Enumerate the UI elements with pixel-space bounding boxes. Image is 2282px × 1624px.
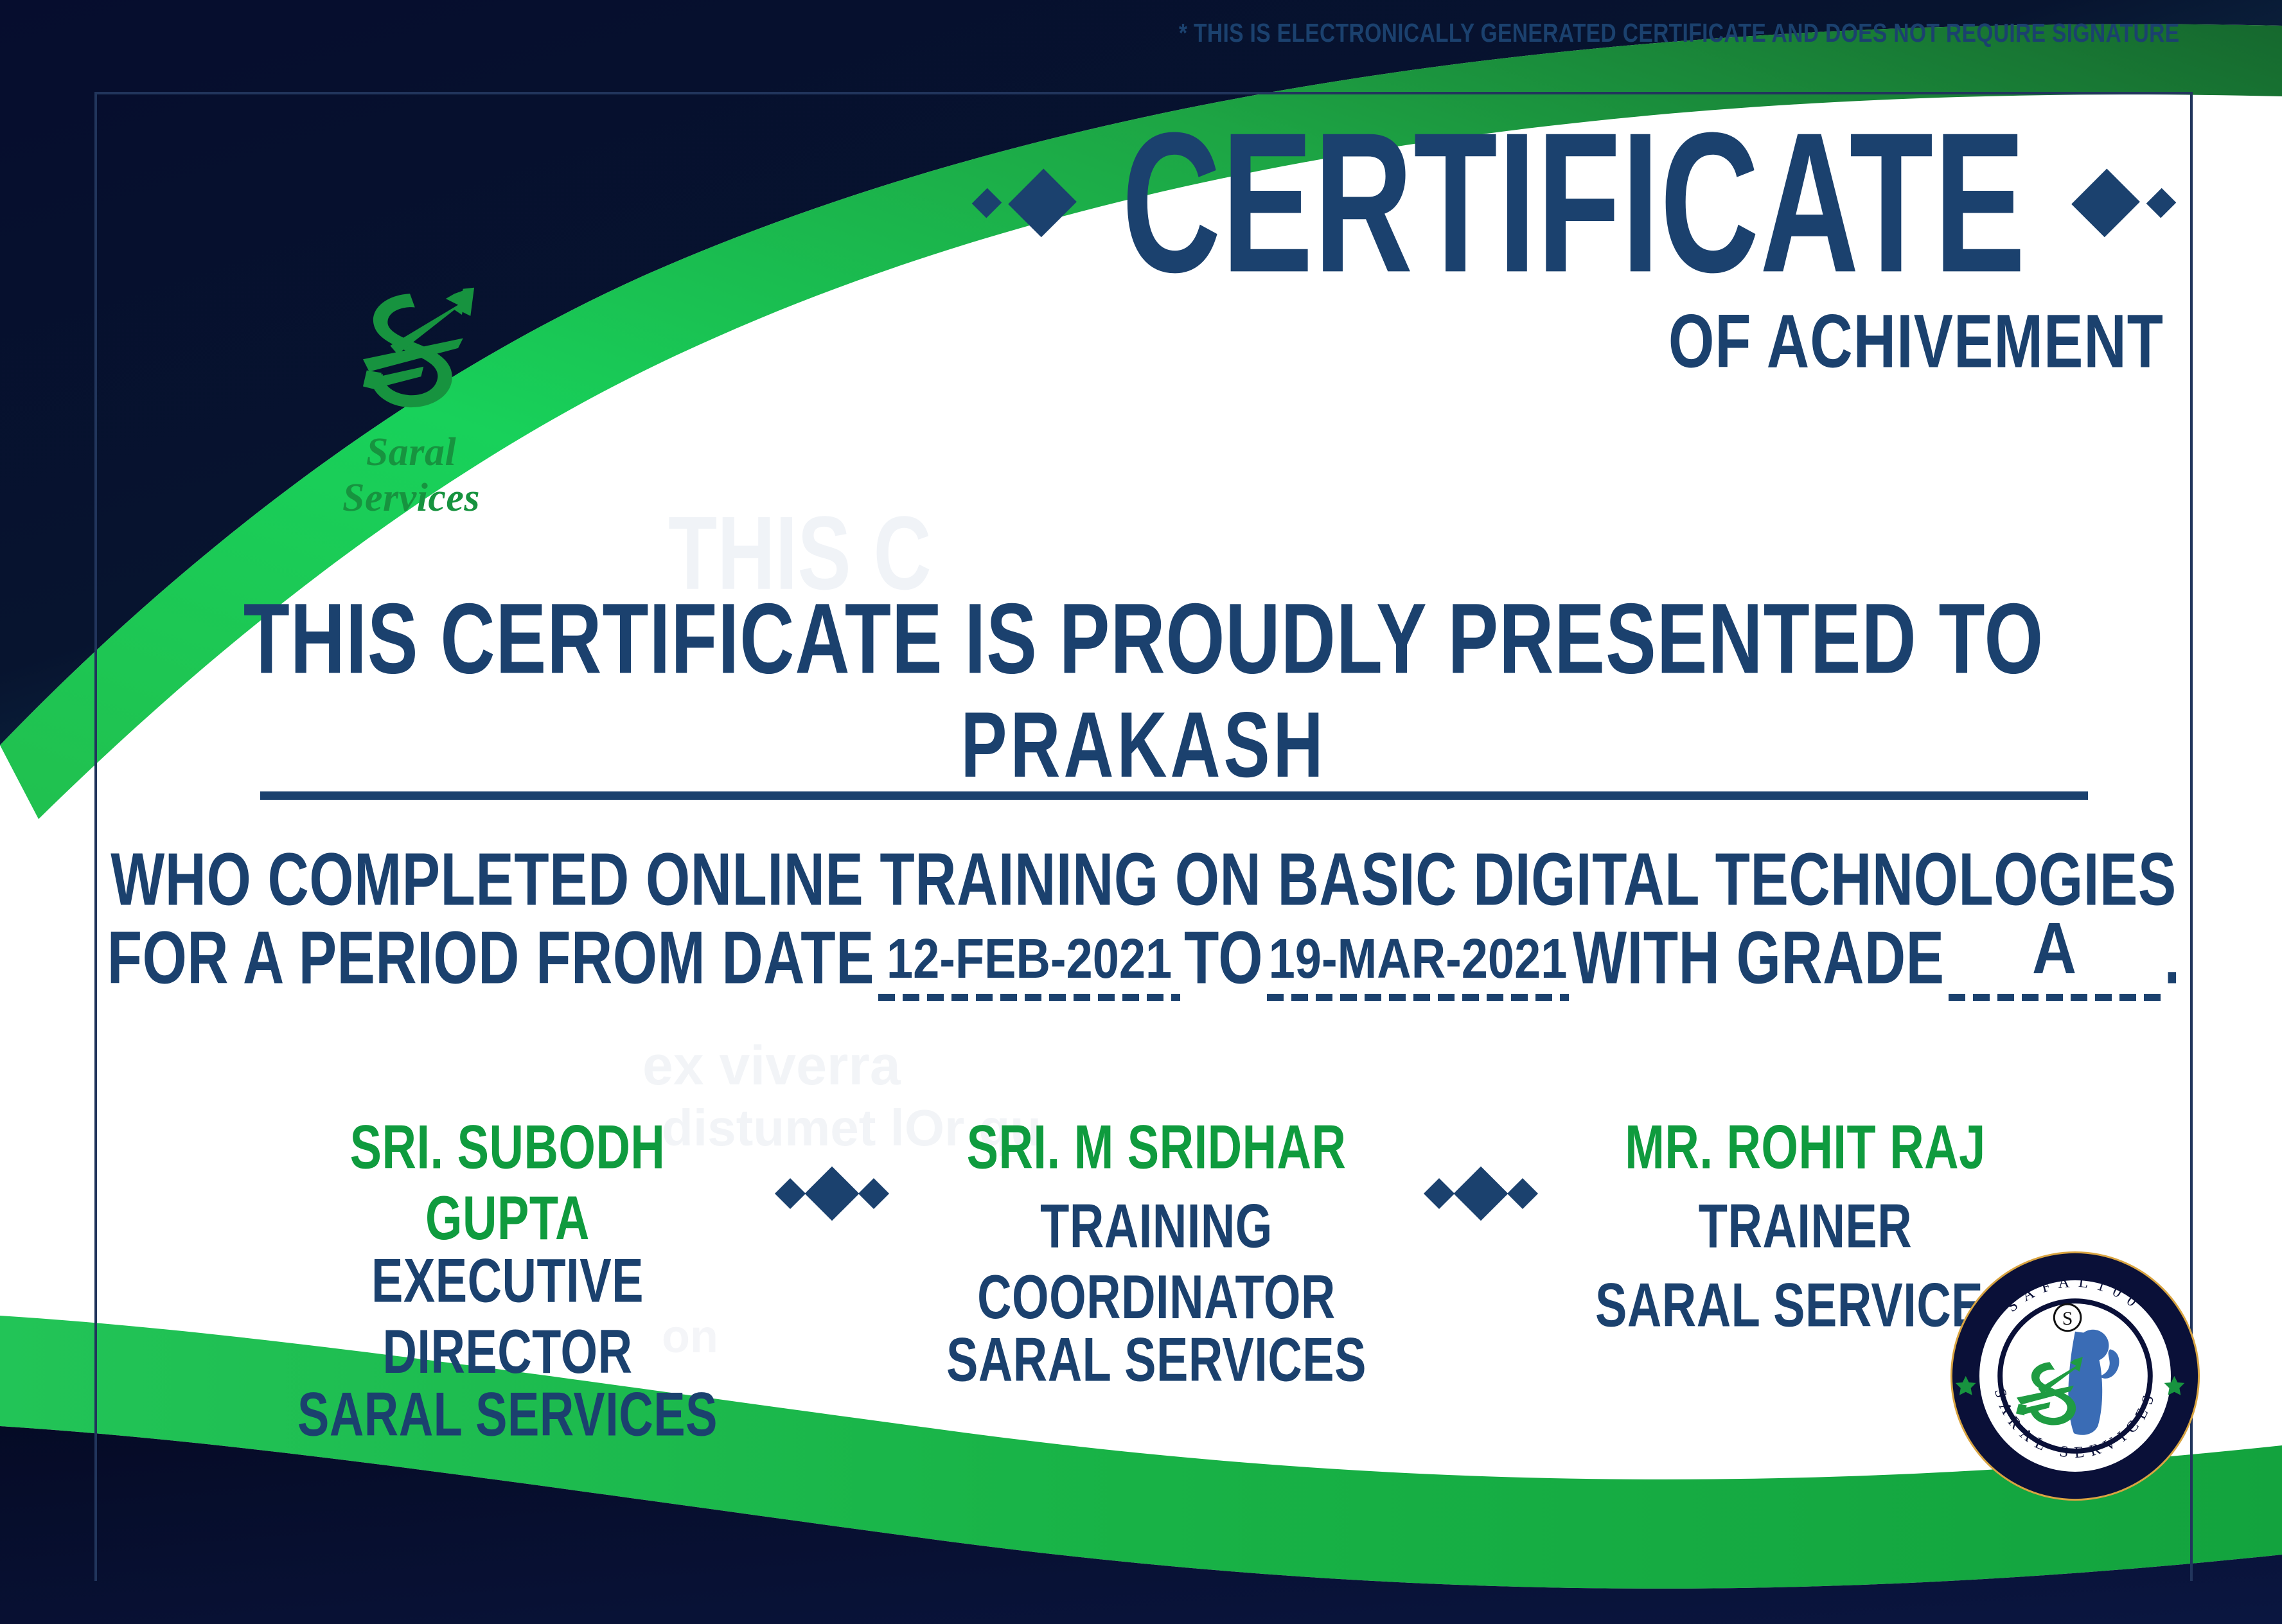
recipient-name: PRAKASH — [94, 691, 2193, 799]
signature-separator — [779, 1111, 885, 1213]
course-line: WHO COMPLETED ONLINE TRAINING ON BASIC D… — [94, 836, 2193, 922]
seal-monogram: S — [2062, 1309, 2073, 1329]
title-block: CERTIFICATE OF ACHIVEMENT — [977, 135, 2171, 376]
grade-value: A — [1949, 907, 2161, 991]
signature-block: SRI. SUBODH GUPTA EXECUTIVE DIRECTOR SAR… — [270, 1111, 745, 1433]
watermark-text: ex viverra — [642, 1034, 901, 1098]
signatory-org: SARAL SERVICES — [270, 1379, 745, 1450]
period-prefix-label: FOR A PERIOD FROM DATE — [107, 915, 874, 1001]
page-title: CERTIFICATE — [1122, 109, 2026, 297]
date-from-field[interactable]: 12-FEB-2021 — [878, 936, 1180, 1001]
diamond-ornament-icon — [805, 1167, 860, 1221]
recipient-name-rule — [260, 791, 2088, 800]
period-line: FOR A PERIOD FROM DATE 12-FEB-2021 TO 19… — [94, 920, 2193, 1001]
signature-block: SRI. M SRIDHAR TRAINING COORDINATOR SARA… — [919, 1111, 1394, 1379]
diamond-ornament-icon — [858, 1178, 889, 1209]
signature-row: SRI. SUBODH GUPTA EXECUTIVE DIRECTOR SAR… — [270, 1111, 2043, 1433]
diamond-ornament-icon — [972, 188, 1002, 218]
diamond-ornament-icon — [1008, 168, 1077, 237]
certificate-page: * THIS IS ELECTRONICALLY GENERATED CERTI… — [0, 0, 2282, 1624]
signature-separator — [1428, 1111, 1534, 1213]
presented-to-line: THIS CERTIFICATE IS PROUDLY PRESENTED TO — [94, 581, 2193, 697]
brand-logo: Saral Services — [292, 267, 530, 521]
period-suffix: . — [2164, 915, 2180, 1001]
diamond-ornament-icon — [1454, 1167, 1508, 1221]
diamond-ornament-icon — [2071, 168, 2140, 237]
page-subtitle: OF ACHIVEMENT — [977, 299, 2164, 385]
date-to-field[interactable]: 19-MAR-2021 — [1267, 936, 1569, 1001]
signatory-name: SRI. SUBODH GUPTA — [270, 1111, 745, 1253]
signatory-role: EXECUTIVE DIRECTOR — [270, 1245, 745, 1387]
signatory-role: TRAINING COORDINATOR — [919, 1190, 1394, 1332]
electronic-notice: * THIS IS ELECTRONICALLY GENERATED CERTI… — [1178, 18, 2179, 48]
signatory-name: MR. ROHIT RAJ — [1568, 1111, 2043, 1183]
diamond-ornament-icon — [2146, 188, 2177, 218]
period-mid-label: TO — [1184, 915, 1263, 1001]
brand-name: Saral Services — [292, 430, 530, 521]
grade-field[interactable]: A — [1949, 920, 2161, 1001]
diamond-ornament-icon — [1424, 1178, 1455, 1209]
official-seal: SAFAL100 SARAL SERVICES S — [1948, 1249, 2202, 1503]
signatory-name: SRI. M SRIDHAR — [919, 1111, 1394, 1183]
diamond-ornament-icon — [1507, 1178, 1538, 1209]
date-to-value: 19-MAR-2021 — [1267, 926, 1569, 991]
signatory-org: SARAL SERVICES — [919, 1324, 1394, 1395]
diamond-ornament-icon — [775, 1178, 806, 1209]
grade-label: WITH GRADE — [1573, 915, 1945, 1001]
title-row: CERTIFICATE — [977, 135, 2171, 271]
date-from-value: 12-FEB-2021 — [878, 926, 1180, 991]
saral-s-arrows-icon — [331, 267, 491, 427]
